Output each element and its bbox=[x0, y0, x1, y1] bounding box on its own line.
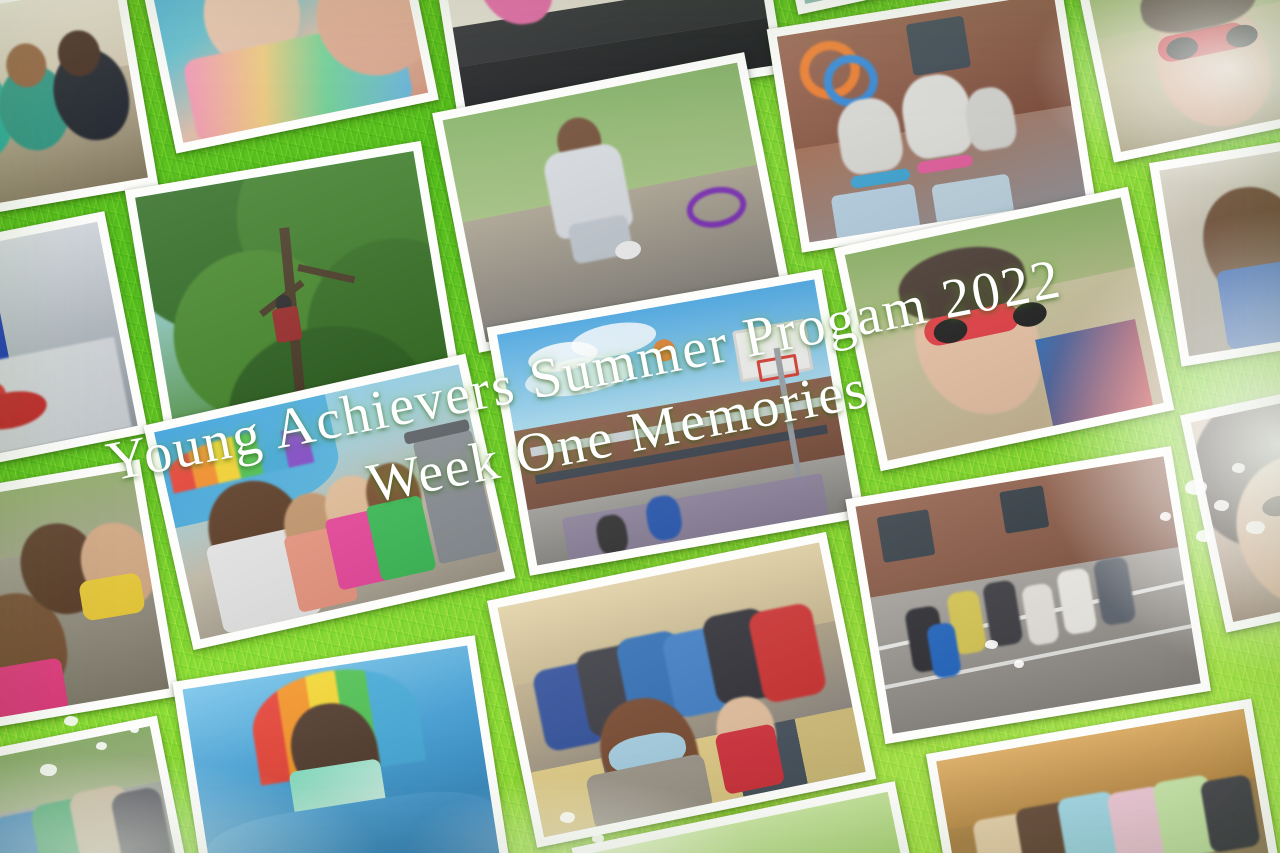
photo-image bbox=[1083, 0, 1280, 152]
photo-frame[interactable] bbox=[1073, 0, 1280, 162]
photo-image bbox=[0, 469, 169, 738]
photo-frame[interactable] bbox=[137, 0, 439, 153]
photo-image bbox=[845, 197, 1164, 460]
photo-frame[interactable] bbox=[1180, 366, 1280, 632]
photo-image bbox=[497, 279, 854, 565]
photo-image bbox=[0, 221, 138, 480]
photo-image bbox=[0, 726, 192, 853]
photo-image bbox=[1159, 138, 1280, 356]
photo-image bbox=[183, 645, 502, 853]
photo-image bbox=[498, 542, 866, 837]
photo-image bbox=[936, 708, 1276, 853]
photo-frame[interactable] bbox=[0, 211, 148, 491]
photo-frame[interactable] bbox=[0, 459, 179, 749]
photo-grid bbox=[0, 0, 1280, 853]
photo-image bbox=[1191, 377, 1280, 622]
photo-frame[interactable] bbox=[172, 635, 511, 853]
photo-frame[interactable] bbox=[1149, 128, 1280, 366]
photo-image bbox=[856, 456, 1201, 733]
photo-frame[interactable] bbox=[845, 446, 1211, 744]
photo-collage-poster: Young Achievers Summer Progam 2022 Week … bbox=[0, 0, 1280, 853]
photo-image bbox=[148, 0, 429, 142]
photo-frame[interactable] bbox=[0, 715, 202, 853]
